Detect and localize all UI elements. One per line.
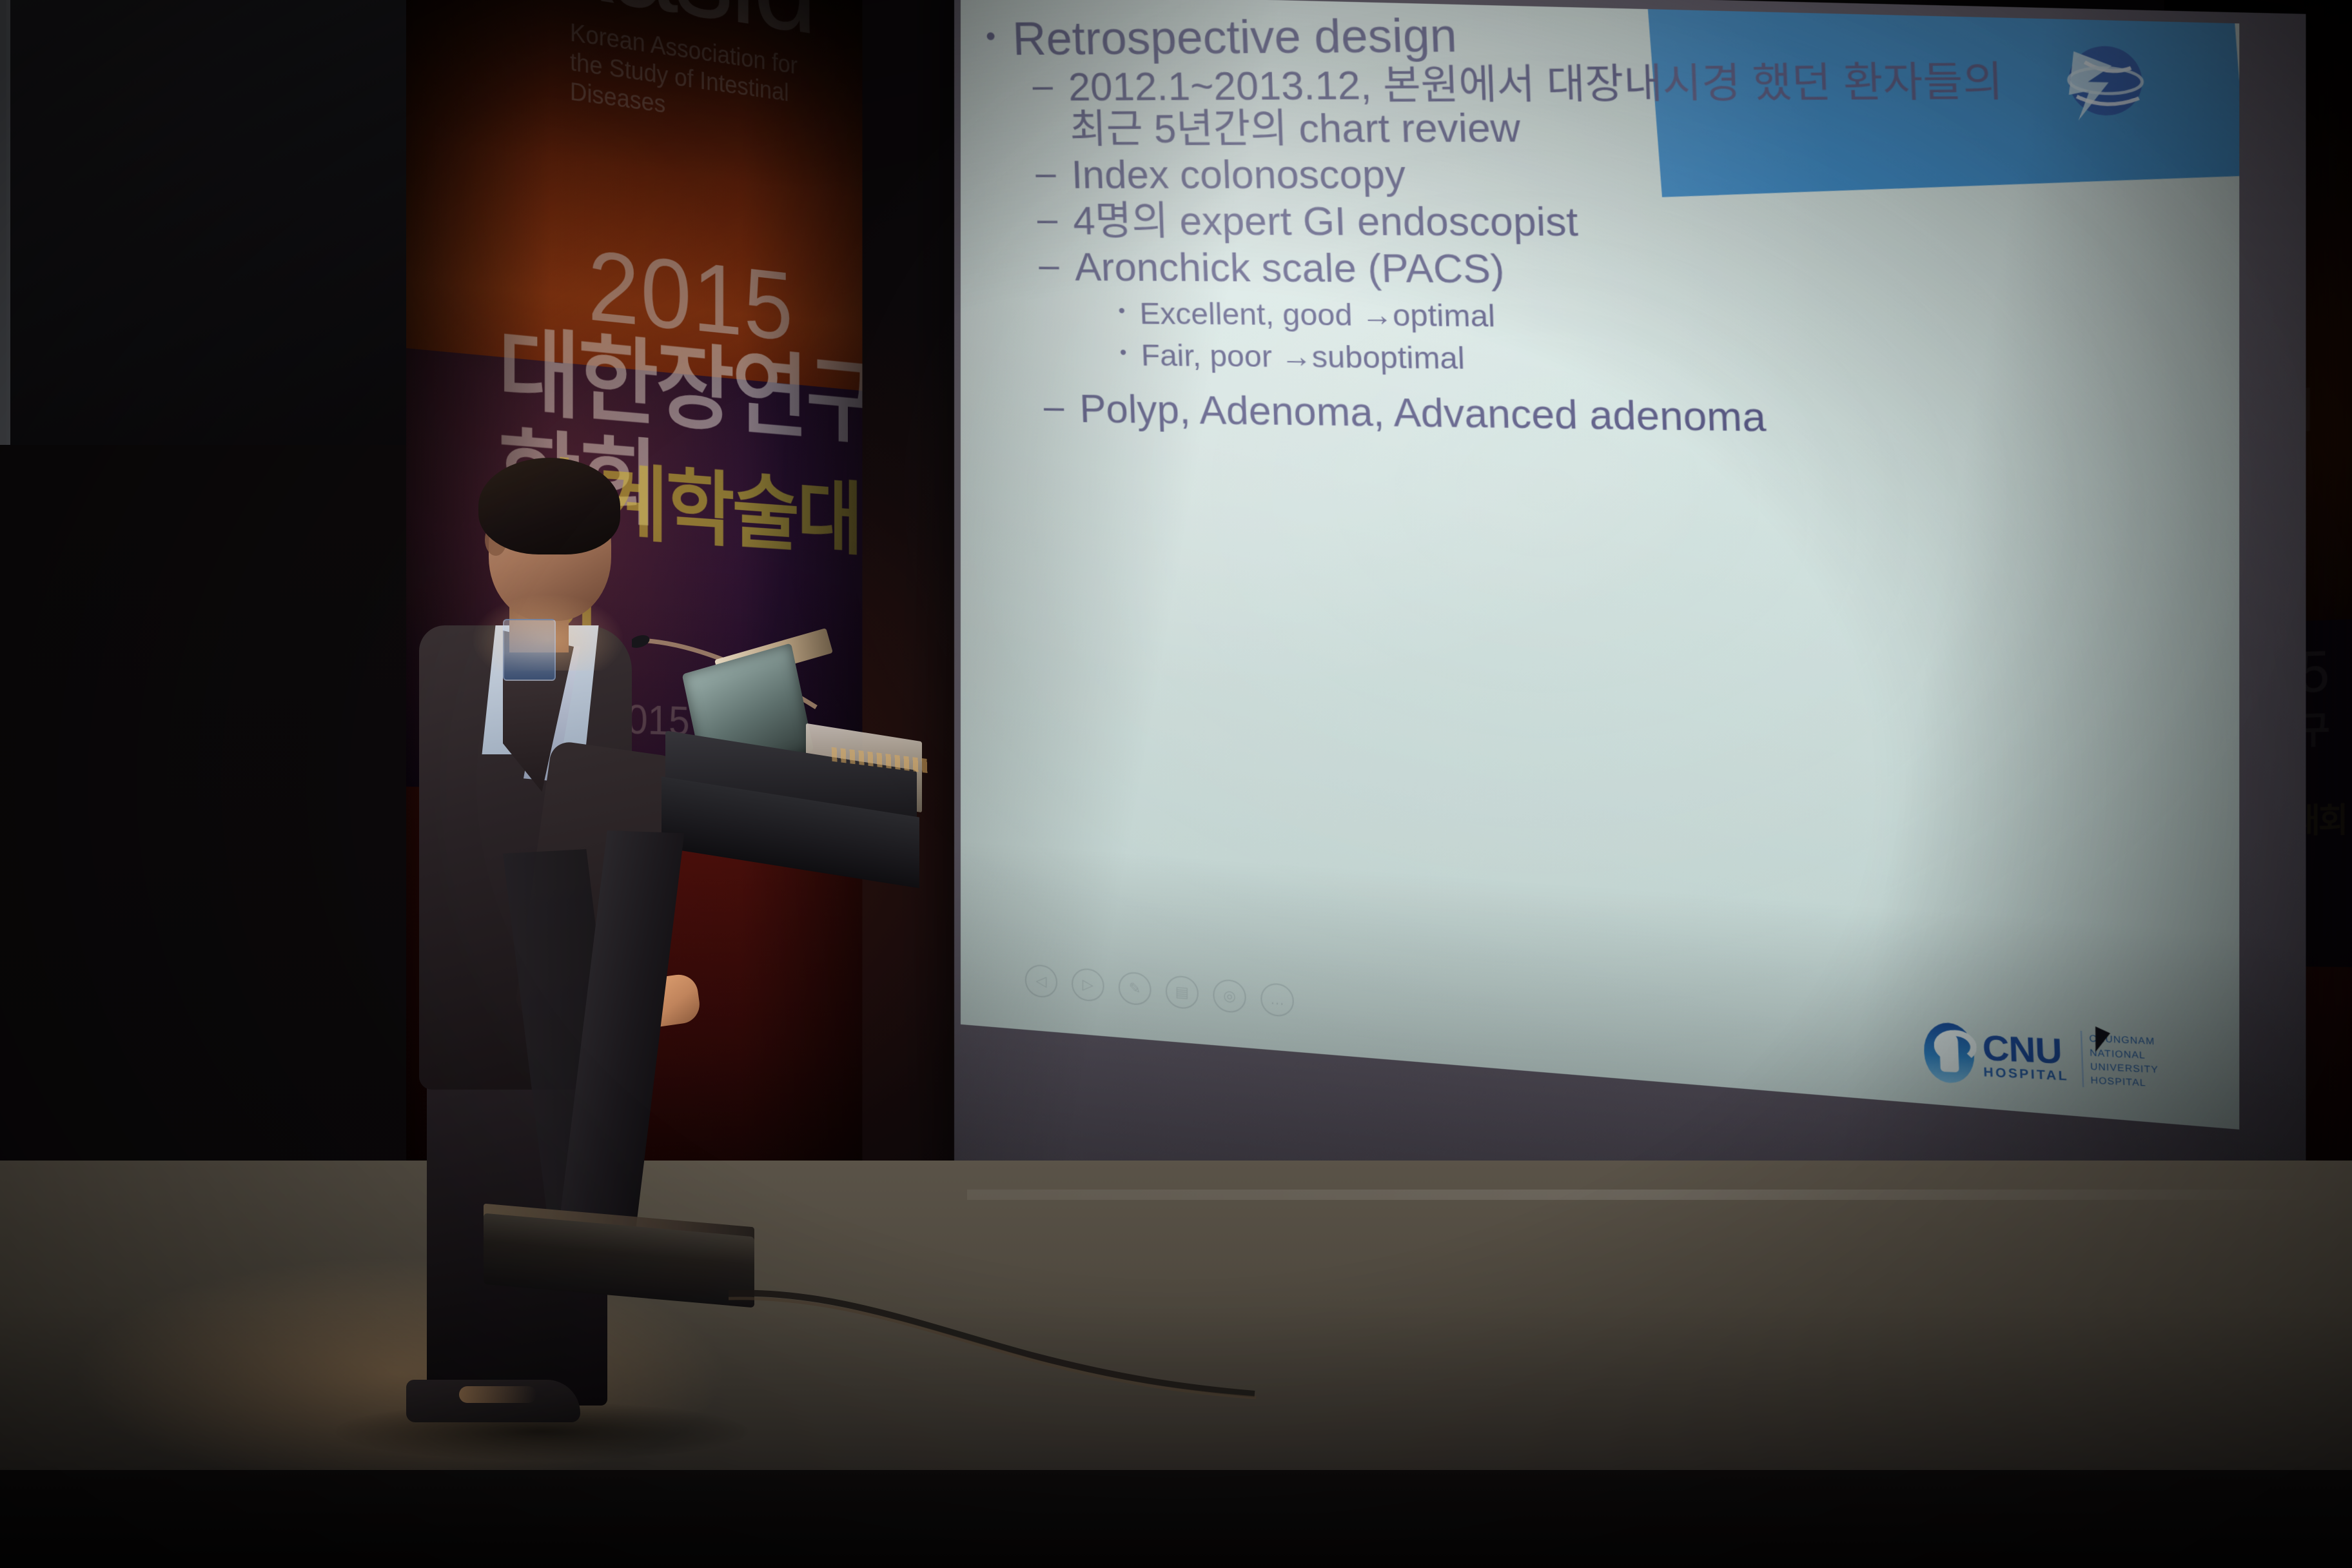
screen-shading (954, 0, 2306, 1332)
conference-photo: kasid Korean Association for the Study o… (0, 0, 2352, 1568)
secondary-screen-panel (6, 0, 432, 460)
stage-floor-edge (967, 1190, 2352, 1200)
lectern (619, 671, 922, 1412)
secondary-screen-edge (0, 0, 10, 447)
speaker-shoe-highlight (459, 1386, 536, 1403)
projection-screen: • Retrospective design – 2012.1~2013.12,… (954, 0, 2306, 1332)
speaker-hair (478, 458, 620, 554)
stage-front-face (0, 1470, 2352, 1568)
floor-cable (729, 1270, 1257, 1399)
water-glass (503, 619, 556, 681)
